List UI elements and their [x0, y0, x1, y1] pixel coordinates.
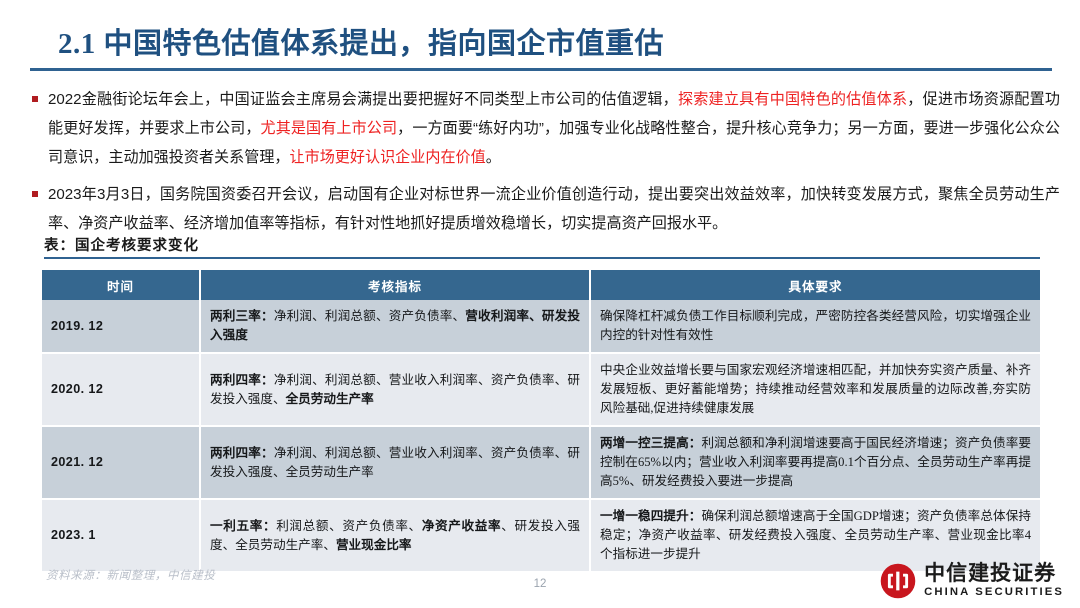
bullet-text: 。 — [486, 149, 501, 166]
cell-requirement: 中央企业效益增长要与国家宏观经济增速相匹配，并加快夯实资产质量、补齐发展短板、更… — [590, 353, 1040, 426]
cell-emphasis-text: 两利三率： — [210, 309, 274, 323]
bullet-marker-icon — [32, 191, 38, 197]
cell-requirement: 两增一控三提高：利润总额和净利润增速要高于国民经济增速；资产负债率要控制在65%… — [590, 426, 1040, 499]
page-title: 2.1 中国特色估值体系提出，指向国企市值重估 — [58, 20, 664, 62]
bullet-highlight-text: 尤其是国有上市公司 — [261, 120, 398, 137]
cell-emphasis-text: 两利四率： — [210, 373, 274, 387]
citic-emblem-icon — [880, 563, 916, 599]
table-row: 2021. 12两利四率：净利润、利润总额、营业收入利润率、资产负债率、研发投入… — [42, 426, 1040, 499]
table-caption: 表：国企考核要求变化 — [44, 234, 199, 255]
company-logo: 中信建投证券 CHINA SECURITIES — [880, 563, 1064, 599]
bullet-marker-icon — [32, 96, 38, 102]
cell-period: 2019. 12 — [42, 300, 200, 353]
cell-text: 确保降杠杆减负债工作目标顺利完成，严密防控各类经营风险，切实增强企业内控的针对性… — [600, 309, 1031, 342]
cell-emphasis-text: 一增一稳四提升： — [600, 509, 701, 523]
cell-period: 2020. 12 — [42, 353, 200, 426]
table-row: 2023. 1一利五率：利润总额、资产负债率、净资产收益率、研发投入强度、全员劳… — [42, 499, 1040, 572]
kpi-table-wrapper: 时间 考核指标 具体要求 2019. 12两利三率：净利润、利润总额、资产负债率… — [42, 270, 1040, 573]
logo-name-en: CHINA SECURITIES — [924, 587, 1064, 598]
cell-requirement: 确保降杠杆减负债工作目标顺利完成，严密防控各类经营风险，切实增强企业内控的针对性… — [590, 300, 1040, 353]
table-caption-divider — [44, 257, 1040, 259]
cell-period: 2021. 12 — [42, 426, 200, 499]
column-header-period: 时间 — [42, 270, 200, 300]
bullet-item: 2023年3月3日，国务院国资委召开会议，启动国有企业对标世界一流企业价值创造行… — [28, 180, 1060, 238]
bullet-highlight-text: 探索建立具有中国特色的估值体系 — [678, 91, 907, 108]
table-row: 2020. 12两利四率：净利润、利润总额、营业收入利润率、资产负债率、研发投入… — [42, 353, 1040, 426]
table-row: 2019. 12两利三率：净利润、利润总额、资产负债率、营收利润率、研发投入强度… — [42, 300, 1040, 353]
cell-indicator: 两利四率：净利润、利润总额、营业收入利润率、资产负债率、研发投入强度、全员劳动生… — [200, 426, 590, 499]
logo-name-cn: 中信建投证券 — [924, 561, 1056, 585]
cell-indicator: 两利四率：净利润、利润总额、营业收入利润率、资产负债率、研发投入强度、全员劳动生… — [200, 353, 590, 426]
cell-emphasis-text: 营业现金比率 — [336, 538, 412, 552]
cell-emphasis-text: 净资产收益率 — [422, 519, 501, 533]
bullet-text: 2023年3月3日，国务院国资委召开会议，启动国有企业对标世界一流企业价值创造行… — [48, 186, 1060, 232]
cell-emphasis-text: 一利五率： — [210, 519, 276, 533]
bullet-text: 2022金融街论坛年会上，中国证监会主席易会满提出要把握好不同类型上市公司的估值… — [48, 91, 678, 108]
cell-text: 中央企业效益增长要与国家宏观经济增速相匹配，并加快夯实资产质量、补齐发展短板、更… — [600, 363, 1031, 415]
table-header-row: 时间 考核指标 具体要求 — [42, 270, 1040, 300]
column-header-requirement: 具体要求 — [590, 270, 1040, 300]
cell-period: 2023. 1 — [42, 499, 200, 572]
cell-emphasis-text: 两利四率： — [210, 446, 274, 460]
cell-text: 利润总额、资产负债率、 — [276, 519, 422, 533]
title-divider — [30, 68, 1052, 71]
cell-indicator: 两利三率：净利润、利润总额、资产负债率、营收利润率、研发投入强度 — [200, 300, 590, 353]
bullet-item: 2022金融街论坛年会上，中国证监会主席易会满提出要把握好不同类型上市公司的估值… — [28, 85, 1060, 172]
column-header-indicator: 考核指标 — [200, 270, 590, 300]
cell-emphasis-text: 两增一控三提高： — [600, 436, 701, 450]
cell-emphasis-text: 全员劳动生产率 — [286, 392, 374, 406]
bullet-highlight-text: 让市场更好认识企业内在价值 — [290, 149, 486, 166]
cell-indicator: 一利五率：利润总额、资产负债率、净资产收益率、研发投入强度、全员劳动生产率、营业… — [200, 499, 590, 572]
bullet-list: 2022金融街论坛年会上，中国证监会主席易会满提出要把握好不同类型上市公司的估值… — [28, 85, 1060, 246]
kpi-table: 时间 考核指标 具体要求 2019. 12两利三率：净利润、利润总额、资产负债率… — [42, 270, 1040, 573]
cell-text: 净利润、利润总额、资产负债率、 — [274, 309, 465, 323]
